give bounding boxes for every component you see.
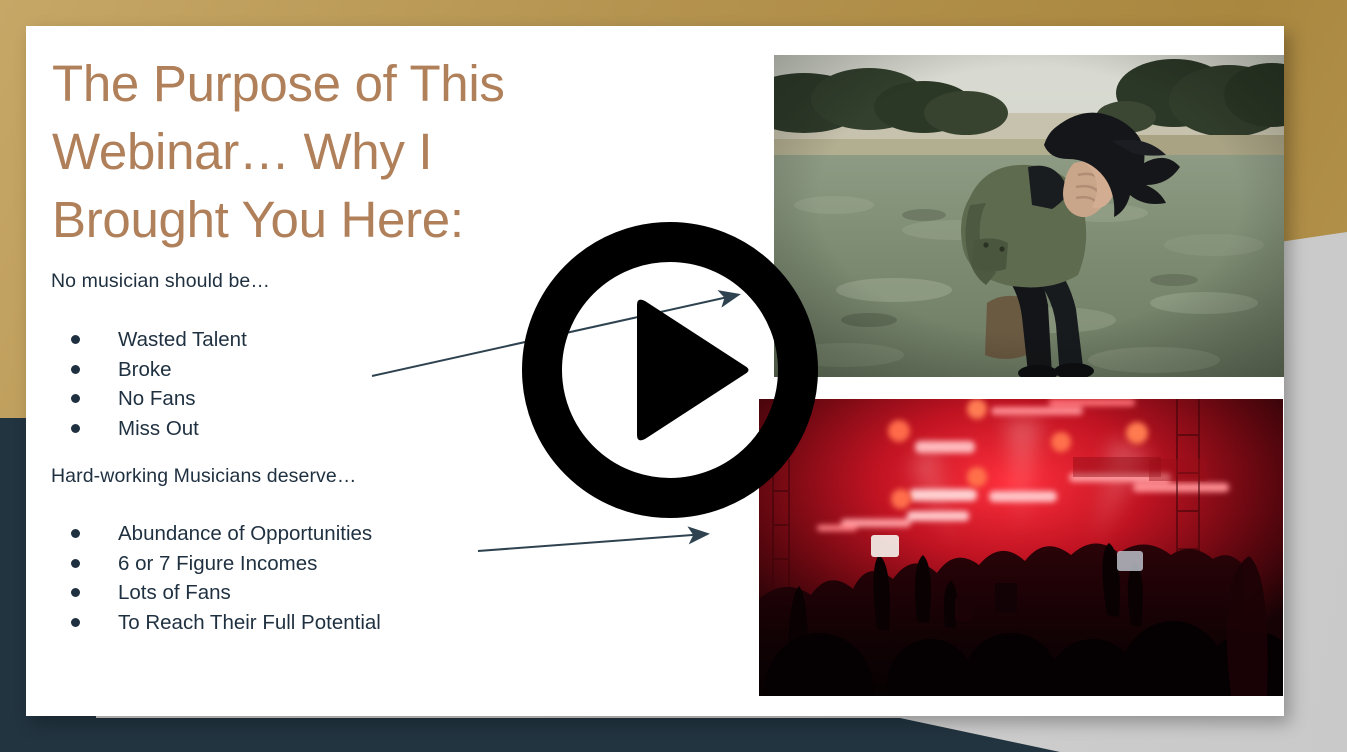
page-title: The Purpose of This Webinar… Why I Broug… (52, 50, 597, 253)
list-item: Lots of Fans (51, 578, 381, 608)
lead-positive: Hard-working Musicians deserve… (51, 465, 356, 488)
list-item: Broke (51, 355, 247, 385)
list-item: Abundance of Opportunities (51, 519, 381, 549)
photo-concert-crowd (759, 399, 1283, 696)
lead-negative: No musician should be… (51, 270, 270, 293)
list-item: 6 or 7 Figure Incomes (51, 549, 381, 579)
list-item: To Reach Their Full Potential (51, 608, 381, 638)
bullet-list-positive: Abundance of Opportunities 6 or 7 Figure… (51, 519, 381, 637)
slide-root: The Purpose of This Webinar… Why I Broug… (0, 0, 1347, 752)
bullet-list-negative: Wasted Talent Broke No Fans Miss Out (51, 325, 247, 443)
photo-sad-musician (774, 55, 1284, 377)
play-button[interactable] (521, 221, 819, 519)
list-item: Wasted Talent (51, 325, 247, 355)
concert-crowd-illustration (759, 399, 1283, 696)
list-item: Miss Out (51, 414, 247, 444)
sad-musician-illustration (774, 55, 1284, 377)
list-item: No Fans (51, 384, 247, 414)
play-triangle-icon (637, 300, 749, 441)
